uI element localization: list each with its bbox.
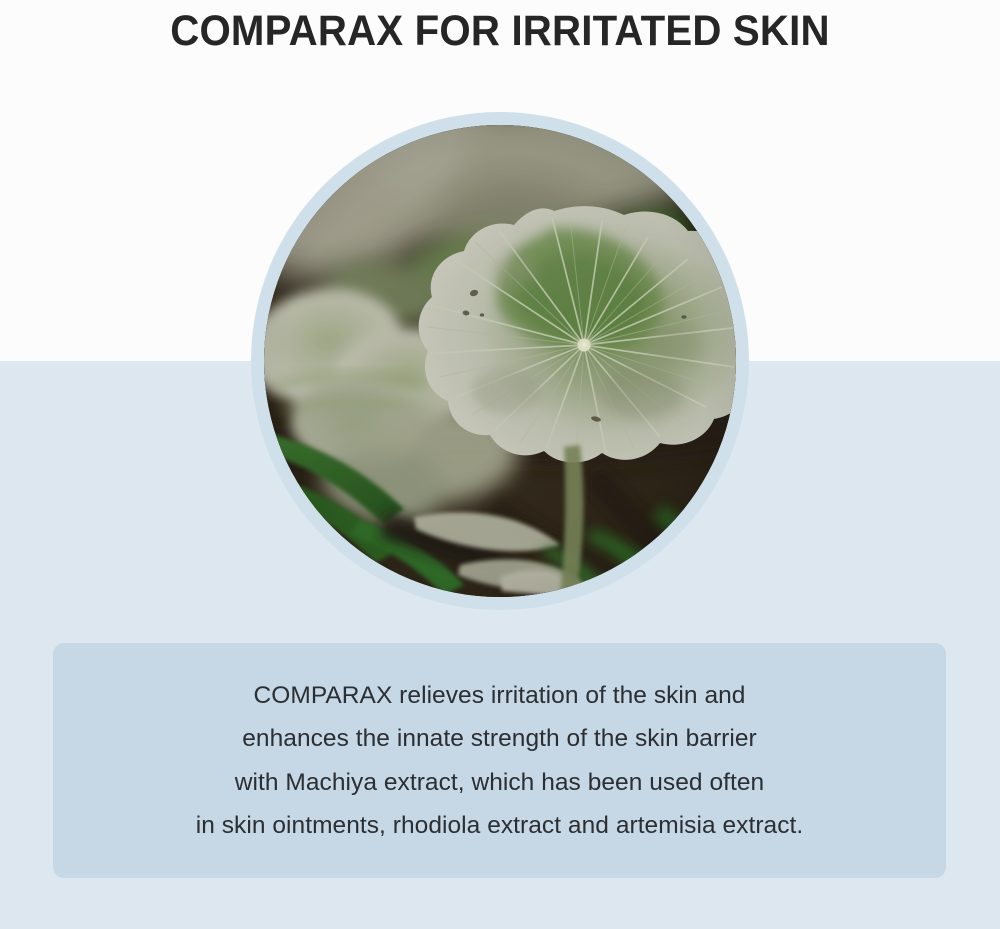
description-panel: COMPARAX relieves irritation of the skin… bbox=[53, 643, 946, 878]
page-title: COMPARAX FOR IRRITATED SKIN bbox=[33, 6, 968, 56]
description-line: enhances the innate strength of the skin… bbox=[53, 717, 946, 761]
description-text: COMPARAX relieves irritation of the skin… bbox=[53, 674, 946, 848]
product-ingredient-banner: COMPARAX FOR IRRITATED SKIN bbox=[0, 0, 1000, 929]
description-line: with Machiya extract, which has been use… bbox=[53, 761, 946, 805]
hero-image-container bbox=[251, 112, 749, 610]
description-line: in skin ointments, rhodiola extract and … bbox=[53, 804, 946, 848]
centella-asiatica-leaves-photo bbox=[264, 125, 736, 597]
description-line: COMPARAX relieves irritation of the skin… bbox=[53, 674, 946, 718]
